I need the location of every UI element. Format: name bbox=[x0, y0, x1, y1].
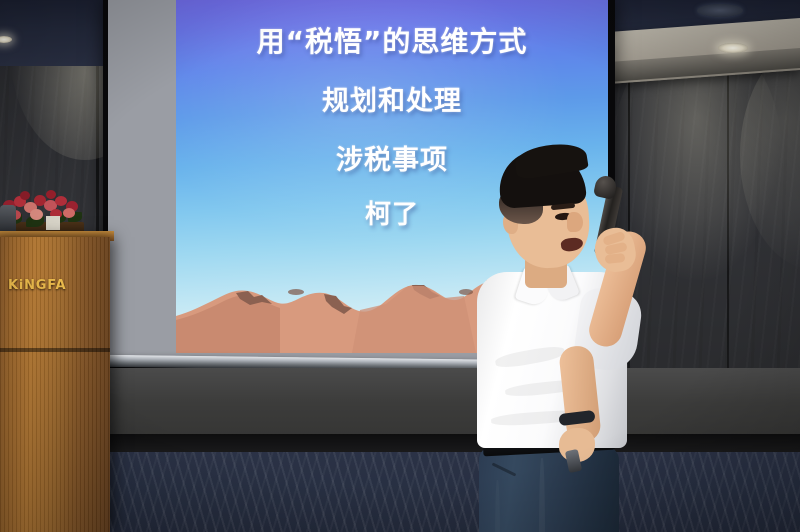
speaker bbox=[455, 150, 670, 532]
flower-icon bbox=[20, 191, 30, 200]
ceiling-vent-icon bbox=[697, 4, 743, 17]
podium-paper bbox=[46, 216, 60, 230]
flower-icon bbox=[63, 208, 75, 218]
trousers bbox=[479, 446, 619, 532]
podium-logo: KiNGFA bbox=[8, 278, 66, 293]
slide-line-2: 规划和处理 bbox=[322, 79, 462, 118]
carpet-pattern bbox=[0, 452, 800, 532]
conference-photo-scene: 用“税悟”的思维方式 规划和处理 涉税事项 柯了 KiNGFA bbox=[0, 0, 800, 532]
slide-line-3: 涉税事项 bbox=[336, 138, 448, 177]
stage-edge bbox=[0, 434, 800, 454]
slide-line-4: 柯了 bbox=[365, 194, 419, 231]
ceiling-downlight-icon bbox=[718, 43, 748, 53]
nose bbox=[567, 212, 583, 232]
slide-line-1: 用“税悟”的思维方式 bbox=[257, 20, 528, 60]
podium-panel-groove bbox=[0, 348, 110, 352]
flower-icon bbox=[46, 190, 56, 199]
flower-icon bbox=[30, 209, 43, 220]
podium-equipment bbox=[0, 205, 16, 233]
